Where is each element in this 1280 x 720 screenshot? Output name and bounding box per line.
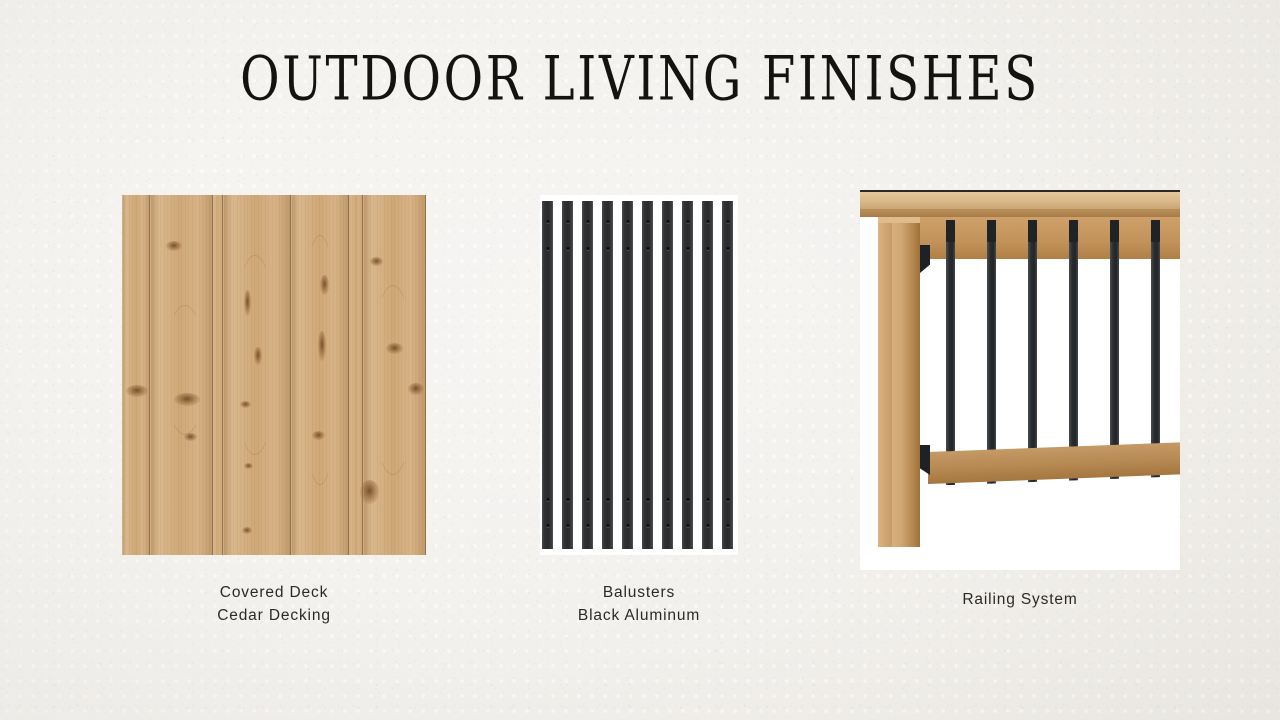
baluster xyxy=(682,201,693,549)
baluster-clip xyxy=(987,220,996,242)
baluster-clip xyxy=(946,220,955,242)
baluster-hole xyxy=(566,498,569,501)
baluster-hole xyxy=(566,220,569,223)
rail-lower-bracket xyxy=(920,445,930,475)
wood-knot xyxy=(360,480,379,504)
caption-line-primary: Covered Deck xyxy=(122,582,426,605)
baluster xyxy=(722,201,733,549)
baluster-hole xyxy=(726,220,729,223)
baluster-hole xyxy=(606,247,609,250)
rail-newel-post-face xyxy=(878,217,892,547)
rail-lower-background xyxy=(928,476,1180,570)
caption-line-secondary: Black Aluminum xyxy=(490,605,788,628)
wood-knot xyxy=(166,241,182,251)
baluster-clip xyxy=(1028,220,1037,242)
railing-baluster xyxy=(1069,220,1078,485)
wood-knot xyxy=(370,257,383,266)
baluster-hole xyxy=(606,524,609,527)
caption-balusters: Balusters Black Aluminum xyxy=(490,582,788,628)
baluster-hole xyxy=(546,524,549,527)
baluster xyxy=(622,201,633,549)
railing-baluster xyxy=(946,220,955,485)
baluster-hole xyxy=(566,247,569,250)
baluster-hole xyxy=(666,220,669,223)
baluster xyxy=(642,201,653,549)
baluster-hole xyxy=(686,498,689,501)
baluster-hole xyxy=(666,498,669,501)
baluster xyxy=(602,201,613,549)
baluster-hole xyxy=(586,220,589,223)
baluster-hole xyxy=(546,498,549,501)
baluster-clip xyxy=(1151,220,1160,242)
deck-plank xyxy=(213,195,223,555)
baluster-hole xyxy=(546,220,549,223)
baluster xyxy=(542,201,553,549)
baluster-clip xyxy=(1069,220,1078,242)
baluster-hole xyxy=(726,247,729,250)
caption-line-primary: Railing System xyxy=(868,589,1172,612)
railing-system-photo[interactable] xyxy=(860,190,1180,570)
baluster-hole xyxy=(666,247,669,250)
black-aluminum-balusters-photo[interactable] xyxy=(540,195,738,555)
baluster-hole xyxy=(706,524,709,527)
rail-upper-bracket xyxy=(920,245,930,273)
baluster-hole xyxy=(586,498,589,501)
deck-plank xyxy=(349,195,363,555)
baluster xyxy=(662,201,673,549)
baluster xyxy=(582,201,593,549)
baluster-hole xyxy=(686,247,689,250)
rail-top-cap-shadow xyxy=(860,209,1180,217)
baluster-hole xyxy=(626,247,629,250)
cedar-decking-photo[interactable] xyxy=(122,195,426,555)
baluster-hole xyxy=(666,524,669,527)
wood-grain xyxy=(300,235,340,485)
baluster xyxy=(562,201,573,549)
baluster-hole xyxy=(606,498,609,501)
railing-baluster xyxy=(1028,220,1037,485)
baluster-hole xyxy=(646,498,649,501)
page-title: OUTDOOR LIVING FINISHES xyxy=(90,50,1191,110)
caption-line-secondary: Cedar Decking xyxy=(122,605,426,628)
rail-newel-post-top xyxy=(878,217,920,223)
baluster-hole xyxy=(626,220,629,223)
wood-knot xyxy=(126,385,148,397)
baluster-hole xyxy=(626,524,629,527)
slide-canvas: OUTDOOR LIVING FINISHES xyxy=(0,0,1280,720)
caption-line-primary: Balusters xyxy=(490,582,788,605)
baluster-hole xyxy=(546,247,549,250)
baluster-hole xyxy=(706,220,709,223)
caption-covered-deck: Covered Deck Cedar Decking xyxy=(122,582,426,628)
baluster-hole xyxy=(686,524,689,527)
wood-knot xyxy=(244,463,253,469)
baluster-hole xyxy=(726,524,729,527)
baluster-hole xyxy=(726,498,729,501)
railing-baluster xyxy=(987,220,996,485)
baluster-hole xyxy=(706,247,709,250)
wood-grain xyxy=(370,285,416,475)
deck-plank xyxy=(122,195,150,555)
baluster xyxy=(702,201,713,549)
wood-grain xyxy=(232,255,278,455)
baluster-hole xyxy=(646,247,649,250)
rail-top-cap xyxy=(860,192,1180,209)
baluster-hole xyxy=(586,247,589,250)
baluster-hole xyxy=(646,220,649,223)
baluster-hole xyxy=(626,498,629,501)
baluster-hole xyxy=(566,524,569,527)
baluster-hole xyxy=(606,220,609,223)
caption-railing-system: Railing System xyxy=(868,589,1172,612)
baluster-hole xyxy=(586,524,589,527)
baluster-clip xyxy=(1110,220,1119,242)
baluster-hole xyxy=(646,524,649,527)
wood-grain xyxy=(164,305,206,435)
baluster-hole xyxy=(706,498,709,501)
baluster-hole xyxy=(686,220,689,223)
wood-knot xyxy=(242,527,252,534)
